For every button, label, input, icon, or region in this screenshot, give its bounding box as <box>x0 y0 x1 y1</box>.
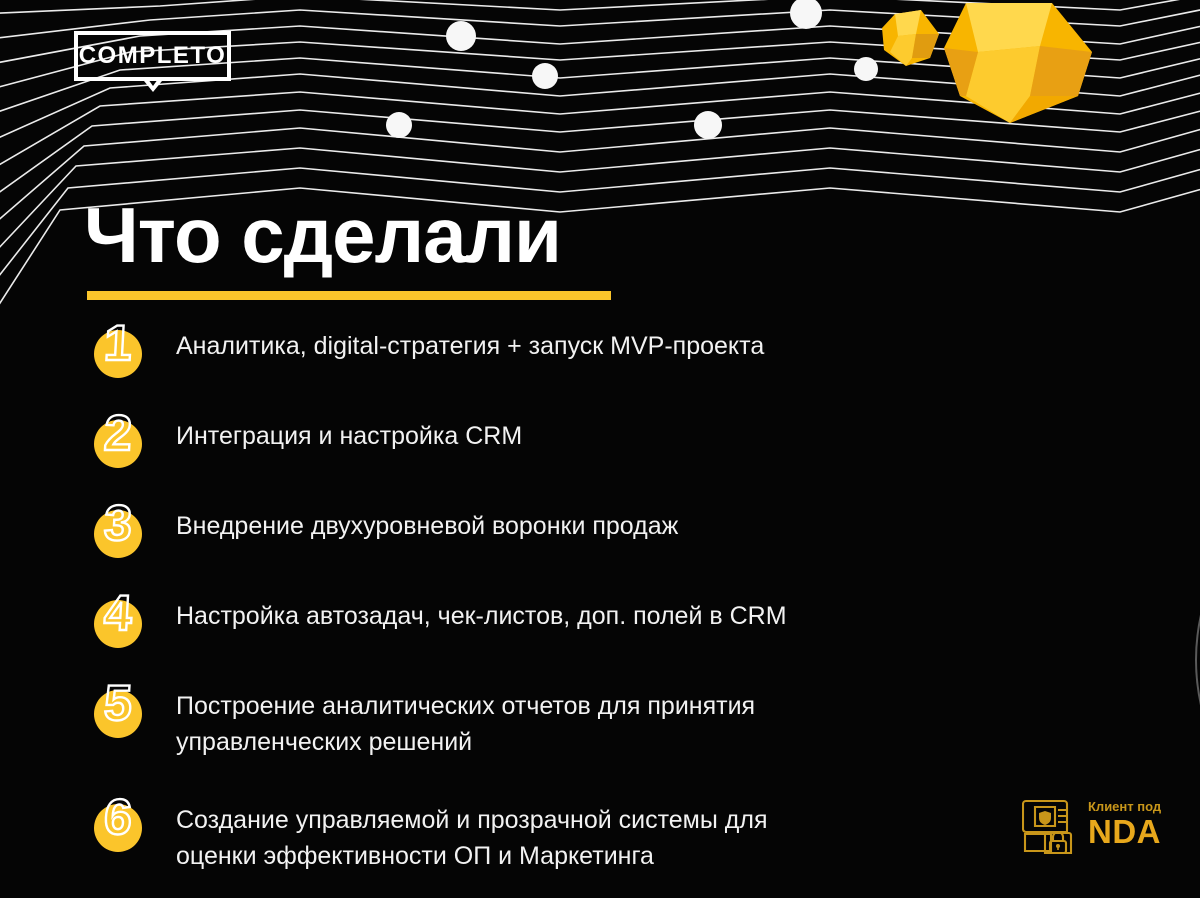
item-number-badge: 4 <box>84 584 176 646</box>
slide: COMPLETO Что сделали 1 Аналитика, digita… <box>0 0 1200 898</box>
list-item-text: Интеграция и настройка CRM <box>176 404 924 454</box>
page-title: Что сделали <box>84 196 561 274</box>
list-item: 3 Внедрение двухуровневой воронки продаж <box>84 494 924 556</box>
completo-logo[interactable]: COMPLETO <box>74 31 231 81</box>
logo-text: COMPLETO <box>74 31 231 81</box>
node-dot <box>854 57 878 81</box>
badge-number: 4 <box>92 582 143 644</box>
badge-number: 1 <box>92 312 143 374</box>
curve-right-edge <box>1196 596 1200 724</box>
list-item-text: Создание управляемой и прозрачной систем… <box>176 788 924 874</box>
item-number-badge: 1 <box>84 314 176 376</box>
document-shield-lock-icon <box>1022 793 1080 855</box>
badge-number: 3 <box>92 492 143 554</box>
list-item-text: Настройка автозадач, чек-листов, доп. по… <box>176 584 924 634</box>
badge-number: 2 <box>92 402 143 464</box>
list-item-text: Внедрение двухуровневой воронки продаж <box>176 494 924 544</box>
item-number-badge: 2 <box>84 404 176 466</box>
title-underline <box>87 291 611 300</box>
item-number-badge: 5 <box>84 674 176 736</box>
node-dot <box>446 21 476 51</box>
gem-large-icon <box>944 3 1092 123</box>
nda-badge: Клиент под NDA <box>1022 786 1190 862</box>
node-dot <box>532 63 558 89</box>
logo-speech-tail-icon <box>144 81 162 92</box>
badge-number: 6 <box>92 786 143 848</box>
list-item: 2 Интеграция и настройка CRM <box>84 404 924 466</box>
list-item: 4 Настройка автозадач, чек-листов, доп. … <box>84 584 924 646</box>
list-item-text: Аналитика, digital-стратегия + запуск MV… <box>176 314 924 364</box>
badge-number: 5 <box>92 672 143 734</box>
list-item: 1 Аналитика, digital-стратегия + запуск … <box>84 314 924 376</box>
gem-small-icon <box>882 10 939 66</box>
nda-texts: Клиент под NDA <box>1088 799 1161 849</box>
achievements-list: 1 Аналитика, digital-стратегия + запуск … <box>84 314 924 898</box>
list-item: 5 Построение аналитических отчетов для п… <box>84 674 924 760</box>
item-number-badge: 6 <box>84 788 176 850</box>
node-dots-group <box>386 0 878 139</box>
list-item-text: Построение аналитических отчетов для при… <box>176 674 924 760</box>
node-dot <box>790 0 822 29</box>
item-number-badge: 3 <box>84 494 176 556</box>
node-dot <box>386 112 412 138</box>
nda-label: NDA <box>1088 815 1161 849</box>
list-item: 6 Создание управляемой и прозрачной сист… <box>84 788 924 874</box>
node-dot <box>694 111 722 139</box>
